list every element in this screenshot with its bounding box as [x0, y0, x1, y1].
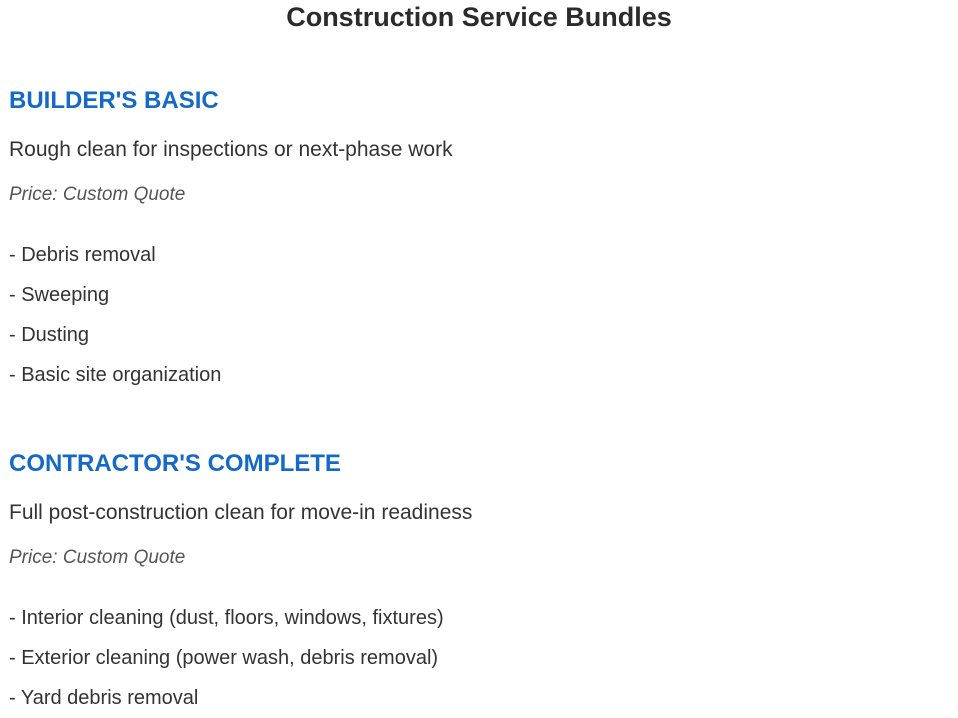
bullet-dash-icon: -: [9, 244, 21, 266]
bundle-price: Price: Custom Quote: [9, 183, 949, 206]
bundle-heading: CONTRACTOR'S COMPLETE: [9, 449, 949, 478]
list-item: - Yard debris removal: [9, 678, 949, 718]
bullet-dash-icon: -: [9, 364, 21, 386]
document-page: Construction Service Bundles BUILDER'S B…: [0, 0, 958, 704]
bundle-heading: BUILDER'S BASIC: [9, 86, 949, 115]
bundle-feature-list: - Interior cleaning (dust, floors, windo…: [9, 598, 949, 718]
list-item: - Interior cleaning (dust, floors, windo…: [9, 598, 949, 638]
bullet-dash-icon: -: [9, 687, 21, 709]
list-item: - Debris removal: [9, 235, 949, 275]
feature-label: Sweeping: [21, 284, 109, 306]
feature-label: Basic site organization: [21, 364, 221, 386]
bullet-dash-icon: -: [9, 284, 21, 306]
feature-label: Dusting: [21, 324, 89, 346]
list-item: - Exterior cleaning (power wash, debris …: [9, 638, 949, 678]
feature-label: Exterior cleaning (power wash, debris re…: [21, 647, 438, 669]
bullet-dash-icon: -: [9, 607, 21, 629]
bundle-feature-list: - Debris removal - Sweeping - Dusting - …: [9, 235, 949, 395]
feature-label: Debris removal: [21, 244, 155, 266]
list-item: - Sweeping: [9, 275, 949, 315]
service-bundle-builders-basic: BUILDER'S BASIC Rough clean for inspecti…: [9, 86, 949, 395]
bundle-price: Price: Custom Quote: [9, 546, 949, 569]
list-item: - Dusting: [9, 315, 949, 355]
feature-label: Interior cleaning (dust, floors, windows…: [21, 607, 443, 629]
bullet-dash-icon: -: [9, 324, 21, 346]
feature-label: Yard debris removal: [21, 687, 198, 709]
bundle-description: Rough clean for inspections or next-phas…: [9, 137, 949, 162]
page-title: Construction Service Bundles: [9, 0, 949, 34]
bullet-dash-icon: -: [9, 647, 21, 669]
bundle-description: Full post-construction clean for move-in…: [9, 500, 949, 525]
service-bundle-contractors-complete: CONTRACTOR'S COMPLETE Full post-construc…: [9, 449, 949, 718]
list-item: - Basic site organization: [9, 355, 949, 395]
